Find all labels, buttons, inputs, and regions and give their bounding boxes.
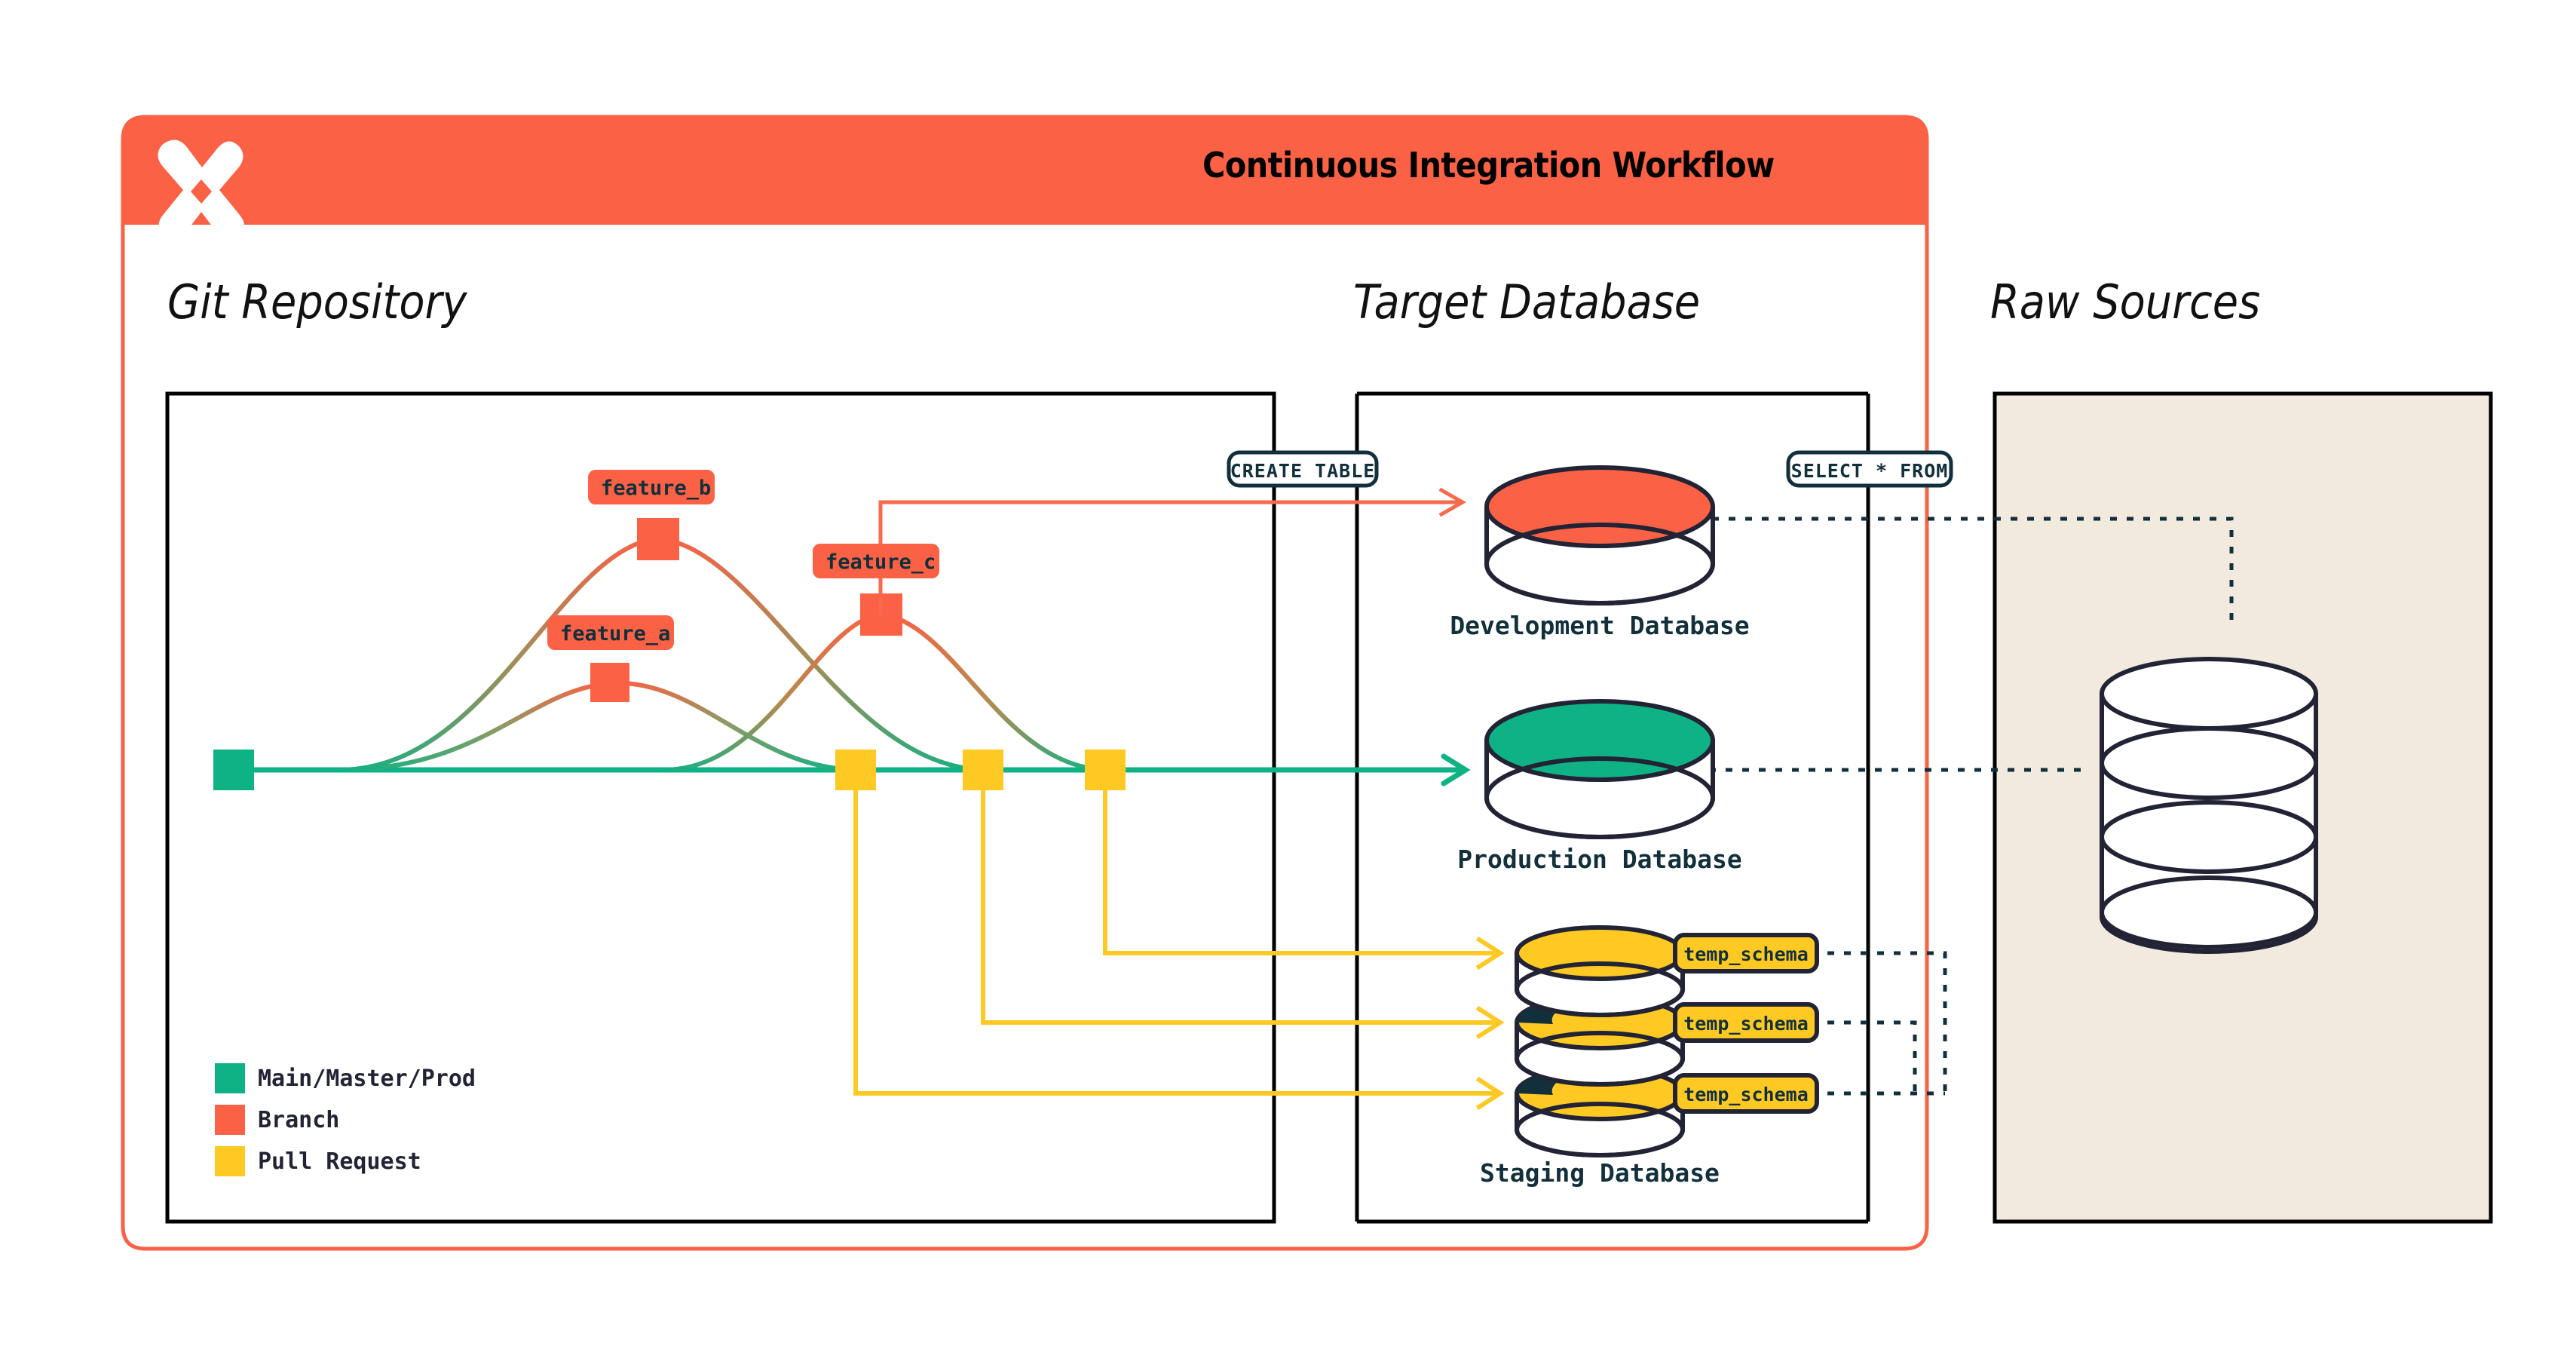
commit-node-feature_b (637, 518, 679, 560)
section-label-git-repository: Git Repository (167, 274, 467, 330)
database-label-development: Development Database (1374, 611, 1826, 640)
staging-database-cylinder (1517, 927, 1683, 1155)
commit-node-pull-request-1 (835, 750, 876, 790)
sql-badge-select-from: SELECT * FROM (1788, 460, 1951, 482)
raw-sources-cylinder (2102, 659, 2316, 952)
legend-label-pull-request: Pull Request (258, 1148, 421, 1175)
diagram-canvas: Continuous Integration Workflow Git Repo… (0, 0, 2576, 1346)
schema-badge-1: temp_schema (1675, 943, 1817, 965)
diagram-svg (0, 0, 2576, 1346)
legend-swatches (215, 1063, 245, 1176)
branch-pill-feature_b: feature_b (601, 477, 702, 500)
section-label-raw-sources: Raw Sources (1990, 274, 2260, 330)
commit-node-pull-request-2 (963, 750, 1003, 790)
commit-node-main (213, 750, 254, 790)
legend-swatch-pull-request (215, 1146, 245, 1176)
commit-node-feature_a (590, 663, 629, 702)
production-database-cylinder (1487, 701, 1713, 837)
branch-pill-feature_a: feature_a (560, 622, 661, 645)
sql-badge-create-table: CREATE TABLE (1229, 460, 1377, 482)
page-title: Continuous Integration Workflow (1202, 145, 1775, 185)
legend-swatch-branch (215, 1105, 245, 1135)
legend-label-branch: Branch (258, 1107, 339, 1133)
database-label-production: Production Database (1374, 845, 1826, 874)
database-label-staging: Staging Database (1374, 1158, 1826, 1188)
branch-pill-feature_c: feature_c (825, 550, 927, 574)
schema-badge-2: temp_schema (1675, 1013, 1817, 1035)
legend-swatch-main (215, 1063, 245, 1093)
legend-label-main: Main/Master/Prod (258, 1065, 476, 1092)
commit-node-pull-request-3 (1085, 750, 1126, 790)
schema-badge-3: temp_schema (1675, 1084, 1817, 1105)
development-database-cylinder (1487, 468, 1713, 603)
section-label-target-database: Target Database (1353, 274, 1700, 330)
